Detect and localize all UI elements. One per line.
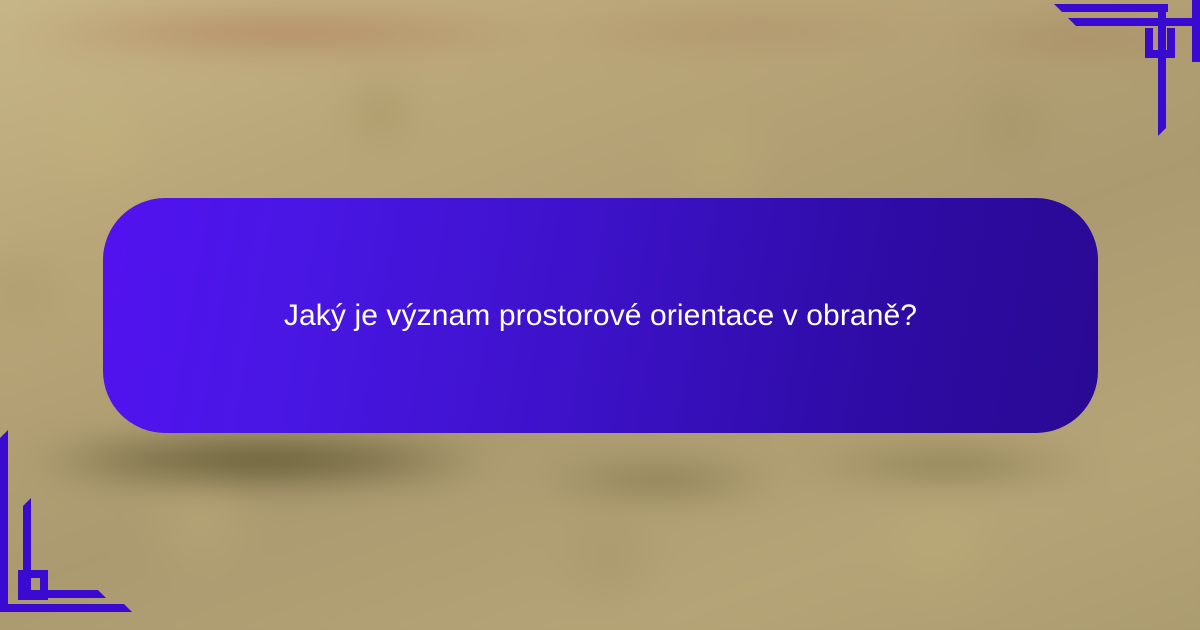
- screenshot-root: Jaký je význam prostorové orientace v ob…: [0, 0, 1200, 630]
- question-text: Jaký je význam prostorové orientace v ob…: [284, 291, 917, 340]
- question-card[interactable]: Jaký je význam prostorové orientace v ob…: [103, 198, 1098, 433]
